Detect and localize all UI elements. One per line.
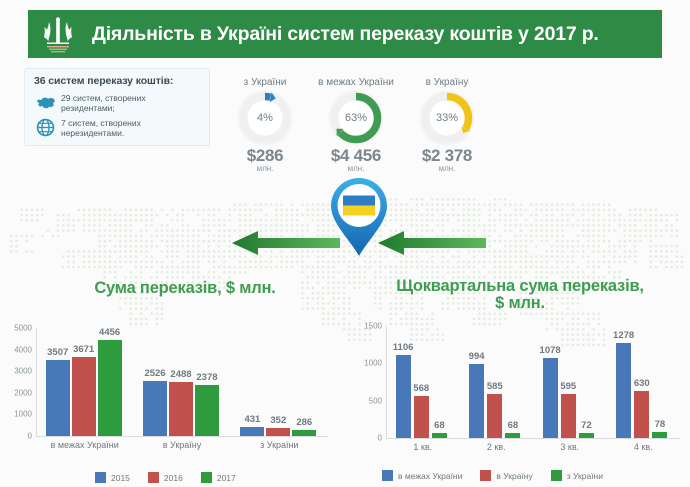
legend-item[interactable]: 2017 (201, 472, 236, 483)
bar-value-label: 568 (413, 383, 429, 394)
systems-info-card: 36 систем переказу коштів: 29 систем, ст… (24, 68, 210, 146)
arrow-outflow-far (232, 229, 340, 257)
bar-value-label: 352 (270, 415, 286, 426)
axis-vertical (36, 328, 37, 436)
y-tick: 1000 (14, 410, 32, 419)
y-tick: 0 (378, 434, 382, 443)
y-tick: 3000 (14, 367, 32, 376)
bar-value-label: 2488 (170, 369, 191, 380)
donut-within-ukraine: в межах України 63% $4 456 млн. (313, 66, 399, 173)
y-tick: 0 (28, 432, 32, 441)
info-row-nonresidents-text: 7 систем, створених нерезидентами. (61, 116, 201, 138)
bar-value-label: 4456 (99, 327, 120, 338)
donut-to-ukraine: в Україну 33% $2 378 млн. (404, 66, 490, 173)
legend-swatch (551, 470, 562, 481)
bar (240, 427, 264, 436)
bar (652, 432, 667, 438)
nbu-logo (32, 11, 84, 57)
donut-label-from-ukraine: з України (222, 66, 308, 88)
map-pin-ukraine-flag (331, 178, 387, 256)
bar (143, 381, 167, 436)
axis-vertical (386, 326, 387, 438)
bar-value-label: 585 (487, 381, 503, 392)
donut-percent-from-ukraine: 4% (236, 89, 294, 147)
x-axis-label: 2 кв. (487, 442, 506, 452)
x-axis-label: 3 кв. (560, 442, 579, 452)
bar (432, 433, 447, 438)
header-bar: Діяльність в Україні систем переказу кош… (28, 10, 662, 58)
bar-value-label: 1278 (613, 330, 634, 341)
bar-value-label: 78 (655, 419, 666, 430)
x-axis-label: 1 кв. (413, 442, 432, 452)
donut-chart-within-ukraine: 63% (327, 89, 385, 147)
donut-percent-to-ukraine: 33% (418, 89, 476, 147)
infographic-root: Діяльність в Україні систем переказу кош… (0, 0, 690, 487)
bar-value-label: 68 (434, 420, 445, 431)
bar (396, 355, 411, 438)
legend-label: 2017 (217, 473, 236, 483)
legend-label: в Україну (496, 471, 532, 481)
bar-value-label: 72 (581, 420, 592, 431)
legend-item[interactable]: з України (551, 470, 603, 481)
donut-group: з України 4% $286 млн. в межах України 6… (222, 66, 490, 181)
bar-value-label: 68 (508, 420, 519, 431)
y-tick: 1000 (364, 359, 382, 368)
donut-unit-from-ukraine: млн. (222, 164, 308, 173)
legend-swatch (480, 470, 491, 481)
bar-value-label: 286 (296, 417, 312, 428)
page-title: Діяльність в Україні систем переказу кош… (92, 23, 599, 46)
bar (292, 430, 316, 436)
y-tick: 500 (369, 396, 382, 405)
quarterly-chart: 1500100050001106568681 кв.994585682 кв.1… (352, 308, 690, 487)
totals-chart-title: Сума переказів, $ млн. (60, 280, 310, 297)
donut-unit-within-ukraine: млн. (313, 164, 399, 173)
bar (46, 360, 70, 436)
bar (266, 428, 290, 436)
donut-percent-within-ukraine: 63% (327, 89, 385, 147)
legend-swatch (95, 472, 106, 483)
info-row-nonresidents: 7 систем, створених нерезидентами. (34, 116, 201, 138)
bar (487, 394, 502, 438)
info-row-residents-text: 29 систем, створених резидентами; (61, 91, 201, 113)
legend-item[interactable]: 2015 (95, 472, 130, 483)
donut-amount-within-ukraine: $4 456 (313, 146, 399, 166)
bar (616, 343, 631, 438)
bar-value-label: 1106 (393, 342, 414, 353)
arrow-outflow-near (378, 229, 486, 257)
bar-value-label: 994 (469, 351, 485, 362)
bar-value-label: 595 (560, 381, 576, 392)
globe-icon (34, 116, 56, 138)
axis-baseline (36, 436, 328, 437)
legend-item[interactable]: в Україну (480, 470, 532, 481)
legend-item[interactable]: в межах України (382, 470, 462, 481)
y-tick: 4000 (14, 345, 32, 354)
quarterly-chart-legend: в межах Українив Українуз України (382, 470, 682, 481)
bar (169, 382, 193, 436)
quarterly-chart-title: Щоквартальна сума переказів, $ млн. (395, 278, 645, 312)
donut-label-within-ukraine: в межах України (313, 66, 399, 88)
x-axis-label: з України (260, 440, 298, 450)
bar-value-label: 431 (244, 414, 260, 425)
bar-value-label: 1078 (540, 345, 561, 356)
info-row-residents: 29 систем, створених резидентами; (34, 91, 201, 113)
x-axis-label: в межах України (51, 440, 119, 450)
bar-value-label: 2526 (144, 368, 165, 379)
bar-value-label: 3507 (47, 347, 68, 358)
y-tick: 1500 (364, 322, 382, 331)
totals-chart-plot: 500040003000200010000350736714456в межах… (0, 312, 340, 436)
legend-item[interactable]: 2016 (148, 472, 183, 483)
y-tick: 5000 (14, 324, 32, 333)
x-axis-label: в Україну (163, 440, 202, 450)
bar (414, 396, 429, 438)
donut-unit-to-ukraine: млн. (404, 164, 490, 173)
bar (72, 357, 96, 436)
legend-label: 2015 (111, 473, 130, 483)
bar-value-label: 2378 (196, 372, 217, 383)
bar (543, 358, 558, 438)
donut-chart-from-ukraine: 4% (236, 89, 294, 147)
donut-chart-to-ukraine: 33% (418, 89, 476, 147)
y-tick: 2000 (14, 388, 32, 397)
quarterly-chart-y-axis: 150010005000 (352, 308, 386, 438)
donut-amount-from-ukraine: $286 (222, 146, 308, 166)
legend-label: 2016 (164, 473, 183, 483)
legend-label: в межах України (398, 471, 462, 481)
legend-swatch (201, 472, 212, 483)
donut-label-to-ukraine: в Україну (404, 66, 490, 88)
bar (579, 433, 594, 438)
bar (561, 394, 576, 438)
bar (469, 364, 484, 438)
x-axis-label: 4 кв. (634, 442, 653, 452)
bar-value-label: 630 (634, 378, 650, 389)
legend-swatch (382, 470, 393, 481)
donut-from-ukraine: з України 4% $286 млн. (222, 66, 308, 173)
axis-baseline (386, 438, 680, 439)
legend-label: з України (567, 471, 603, 481)
quarterly-chart-plot: 1500100050001106568681 кв.994585682 кв.1… (352, 308, 690, 438)
ukraine-map-icon (34, 91, 56, 113)
totals-chart-legend: 201520162017 (95, 472, 335, 483)
systems-info-title: 36 систем переказу коштів: (34, 75, 201, 87)
totals-chart-y-axis: 500040003000200010000 (0, 312, 36, 436)
bar (195, 385, 219, 436)
bar (634, 391, 649, 438)
bar (98, 340, 122, 436)
bar (505, 433, 520, 438)
donut-amount-to-ukraine: $2 378 (404, 146, 490, 166)
bar-value-label: 3671 (73, 344, 94, 355)
totals-chart: 500040003000200010000350736714456в межах… (0, 312, 340, 487)
legend-swatch (148, 472, 159, 483)
